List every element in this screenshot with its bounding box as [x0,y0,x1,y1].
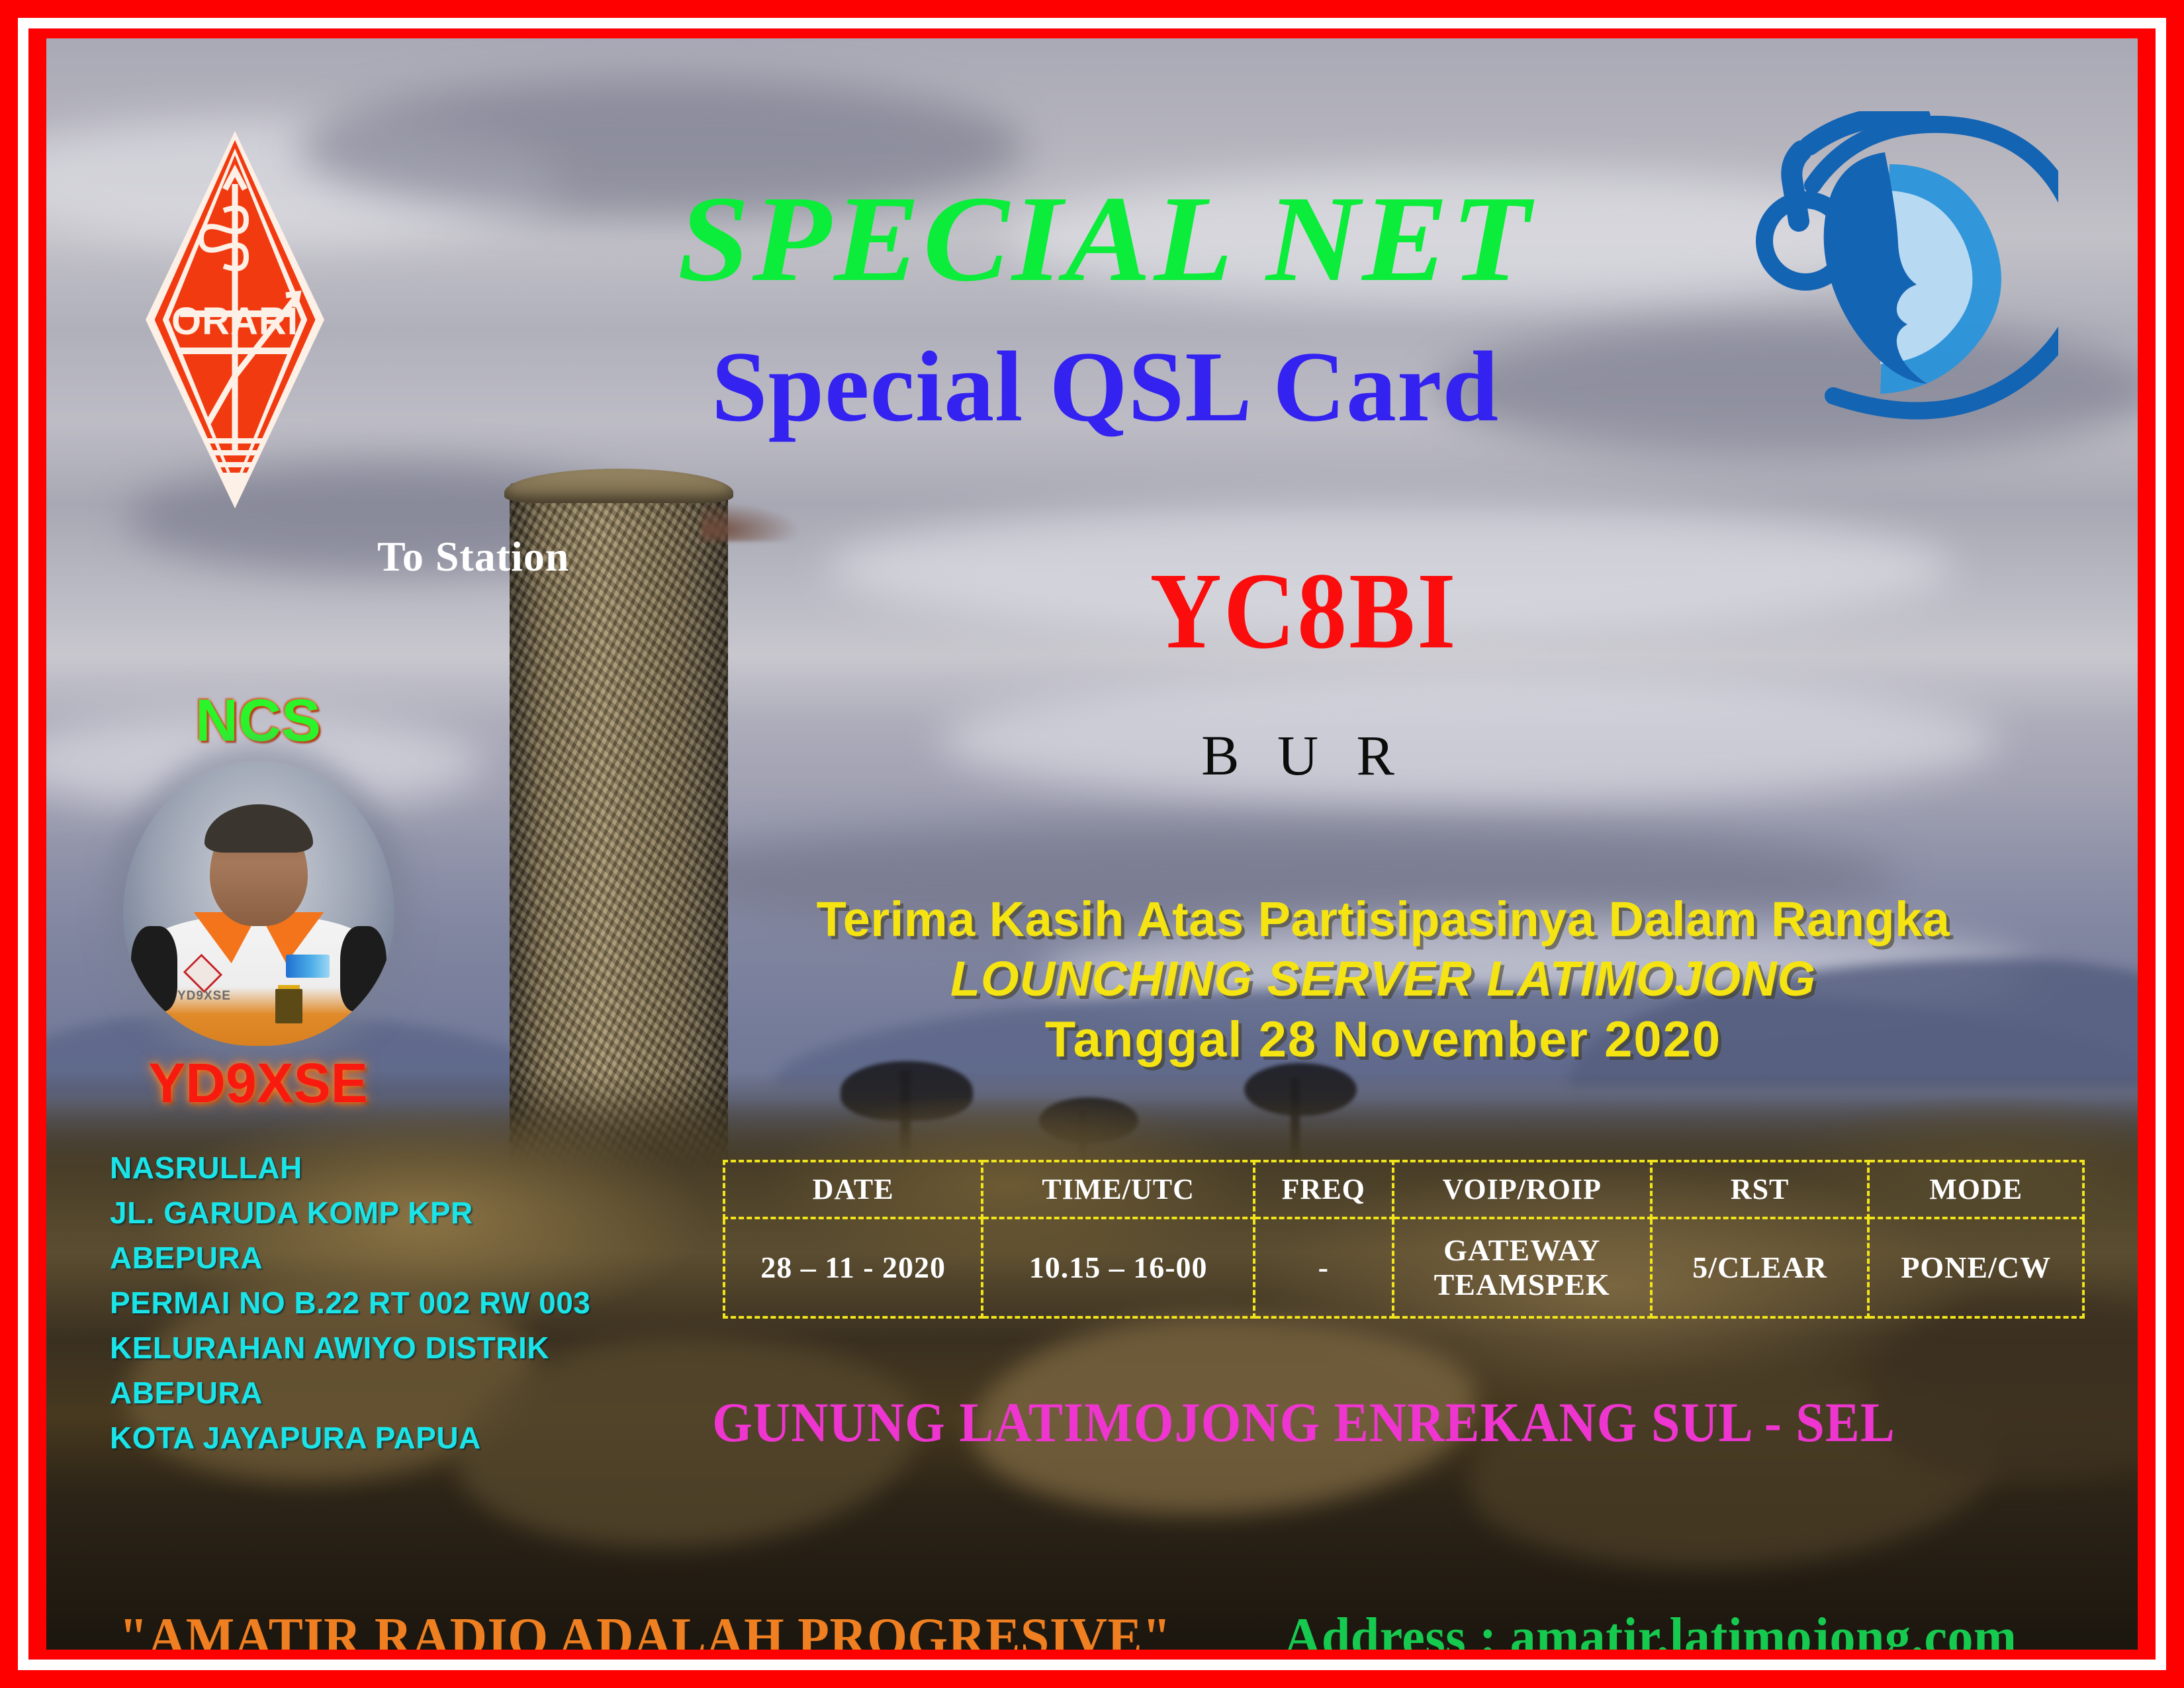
cell-time: 10.15 – 16-00 [982,1218,1254,1317]
cell-date: 28 – 11 - 2020 [724,1218,982,1317]
address-line: KELURAHAN AWIYO DISTRIK [110,1325,705,1370]
address-line: ABEPURA [110,1235,705,1280]
column-header-time: TIME/UTC [982,1161,1254,1218]
address-line: JL. GARUDA KOMP KPR [110,1190,705,1235]
web-address: Address : amatir.latimojong.com [1284,1605,2017,1650]
address-line: PERMAI NO B.22 RT 002 RW 003 [110,1280,705,1325]
orari-logo: ORARI [146,131,324,508]
qso-log-table: DATE TIME/UTC FREQ VOIP/ROIP RST MODE 28… [723,1160,2085,1319]
column-header-voip: VOIP/ROIP [1393,1161,1651,1218]
column-header-date: DATE [724,1161,982,1218]
operator-shirt-callsign: YD9XSE [177,989,231,1004]
mountain-location-label: GUNUNG LATIMOJONG ENREKANG SUL - SEL [642,1390,1966,1454]
qsl-card: ORARI SPECIAL NET Special QSL Card To St… [0,0,2184,1688]
to-station-label: To Station [377,532,569,581]
column-header-mode: MODE [1868,1161,2083,1218]
thanks-line-1: Terima Kasih Atas Partisipasinya Dalam R… [642,890,2124,949]
headset-profile-logo [1754,111,2058,422]
club-motto: "AMATIR RADIO ADALAH PROGRESIVE" [119,1605,1171,1650]
cell-voip-line-1: GATEWAY [1443,1233,1600,1267]
ncs-label: NCS [132,687,384,755]
column-header-rst: RST [1651,1161,1869,1218]
page-title-special-net: SPECIAL NET [438,177,1772,301]
operator-sleeve-right [340,926,387,1011]
cell-rst: 5/CLEAR [1651,1218,1869,1317]
table-header-row: DATE TIME/UTC FREQ VOIP/ROIP RST MODE [724,1161,2083,1218]
headset-profile-soundwave-icon [1754,111,2058,422]
operator-hair [205,804,313,853]
operator-sleeve-left [131,926,177,1011]
column-header-freq: FREQ [1254,1161,1393,1218]
sender-address-block: NASRULLAH JL. GARUDA KOMP KPR ABEPURA PE… [110,1145,705,1461]
cell-voip-line-2: TEAMSPEK [1434,1268,1610,1301]
thanks-line-3-date: Tanggal 28 November 2020 [642,1009,2124,1071]
address-line: KOTA JAYAPURA PAPUA [110,1415,705,1460]
table-row: 28 – 11 - 2020 10.15 – 16-00 - GATEWAY T… [724,1218,2083,1317]
operator-badge-right [286,955,330,977]
cell-mode: PONE/CW [1868,1218,2083,1317]
background-photograph: ORARI SPECIAL NET Special QSL Card To St… [46,38,2138,1650]
dry-grass-tuft [702,502,801,541]
cell-voip: GATEWAY TEAMSPEK [1393,1218,1651,1317]
address-line: ABEPURA [110,1370,705,1415]
orari-wordmark: ORARI [146,303,324,341]
bur-label: B U R [907,727,1701,784]
recipient-callsign: YC8BI [907,557,1701,666]
cell-freq: - [1254,1218,1393,1317]
ncs-callsign: YD9XSE [93,1051,424,1115]
thanks-line-2-event-name: LOUNCHING SERVER LATIMOJONG [642,949,2124,1009]
address-line: NASRULLAH [110,1145,705,1190]
thanks-message-block: Terima Kasih Atas Partisipasinya Dalam R… [642,890,2124,1070]
operator-id-tag [275,989,302,1023]
page-subtitle-special-qsl-card: Special QSL Card [470,336,1741,437]
